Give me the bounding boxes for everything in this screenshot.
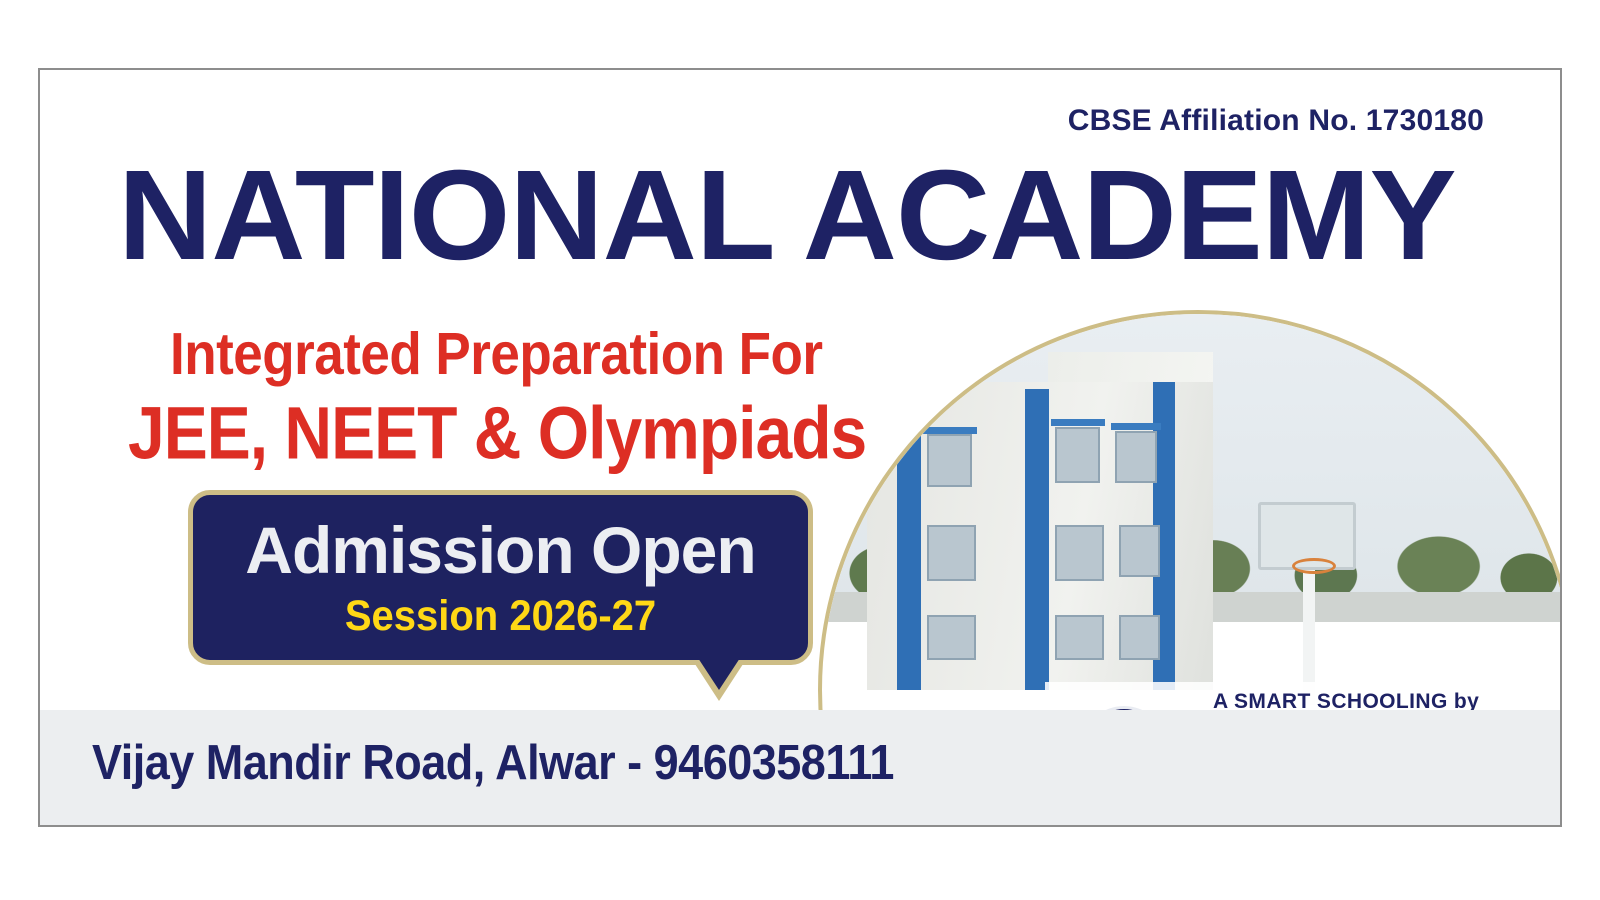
- photo-window: [927, 434, 972, 487]
- student-figure: [909, 826, 947, 827]
- subtitle-line-1: Integrated Preparation For: [170, 320, 823, 388]
- address-band: Vijay Mandir Road, Alwar - 9460358111: [40, 710, 1560, 825]
- photo-window: [1119, 525, 1160, 578]
- student-figure: [972, 826, 1010, 827]
- student-figure: [1536, 826, 1562, 827]
- page-title: NATIONAL ACADEMY: [118, 152, 1475, 280]
- photo-window: [1055, 525, 1104, 581]
- photo-window: [1055, 615, 1104, 660]
- student-figure: [1097, 826, 1135, 827]
- admission-headline: Admission Open: [188, 512, 813, 588]
- photo-window-shade: [923, 427, 977, 434]
- subtitle-line-2: JEE, NEET & Olympiads: [128, 390, 866, 475]
- photo-window-shade: [1051, 419, 1105, 426]
- photo-building-stripe-2: [1025, 389, 1049, 690]
- photo-window: [1115, 431, 1156, 484]
- student-figure: [847, 826, 885, 827]
- photo-window: [927, 525, 976, 581]
- student-figure: [1223, 826, 1261, 827]
- photo-building-stripe-1: [897, 404, 921, 690]
- student-figure: [1035, 826, 1073, 827]
- student-figure: [1348, 826, 1386, 827]
- cbse-affiliation-text: CBSE Affiliation No. 1730180: [1068, 104, 1484, 138]
- photo-window: [927, 615, 976, 660]
- student-figure: [1473, 826, 1511, 827]
- photo-window: [1055, 427, 1100, 483]
- admission-session: Session 2026-27: [188, 593, 813, 641]
- callout-tail-fill: [698, 658, 740, 690]
- admission-callout: Admission Open Session 2026-27: [188, 490, 813, 665]
- banner-card: CBSE Affiliation No. 1730180 NATIONAL AC…: [38, 68, 1562, 827]
- student-figure: [1411, 826, 1449, 827]
- address-text: Vijay Mandir Road, Alwar - 9460358111: [92, 734, 894, 791]
- student-figure: [1285, 826, 1323, 827]
- photo-window-shade: [1111, 423, 1161, 430]
- photo-window: [1119, 615, 1160, 660]
- student-figure: [1160, 826, 1198, 827]
